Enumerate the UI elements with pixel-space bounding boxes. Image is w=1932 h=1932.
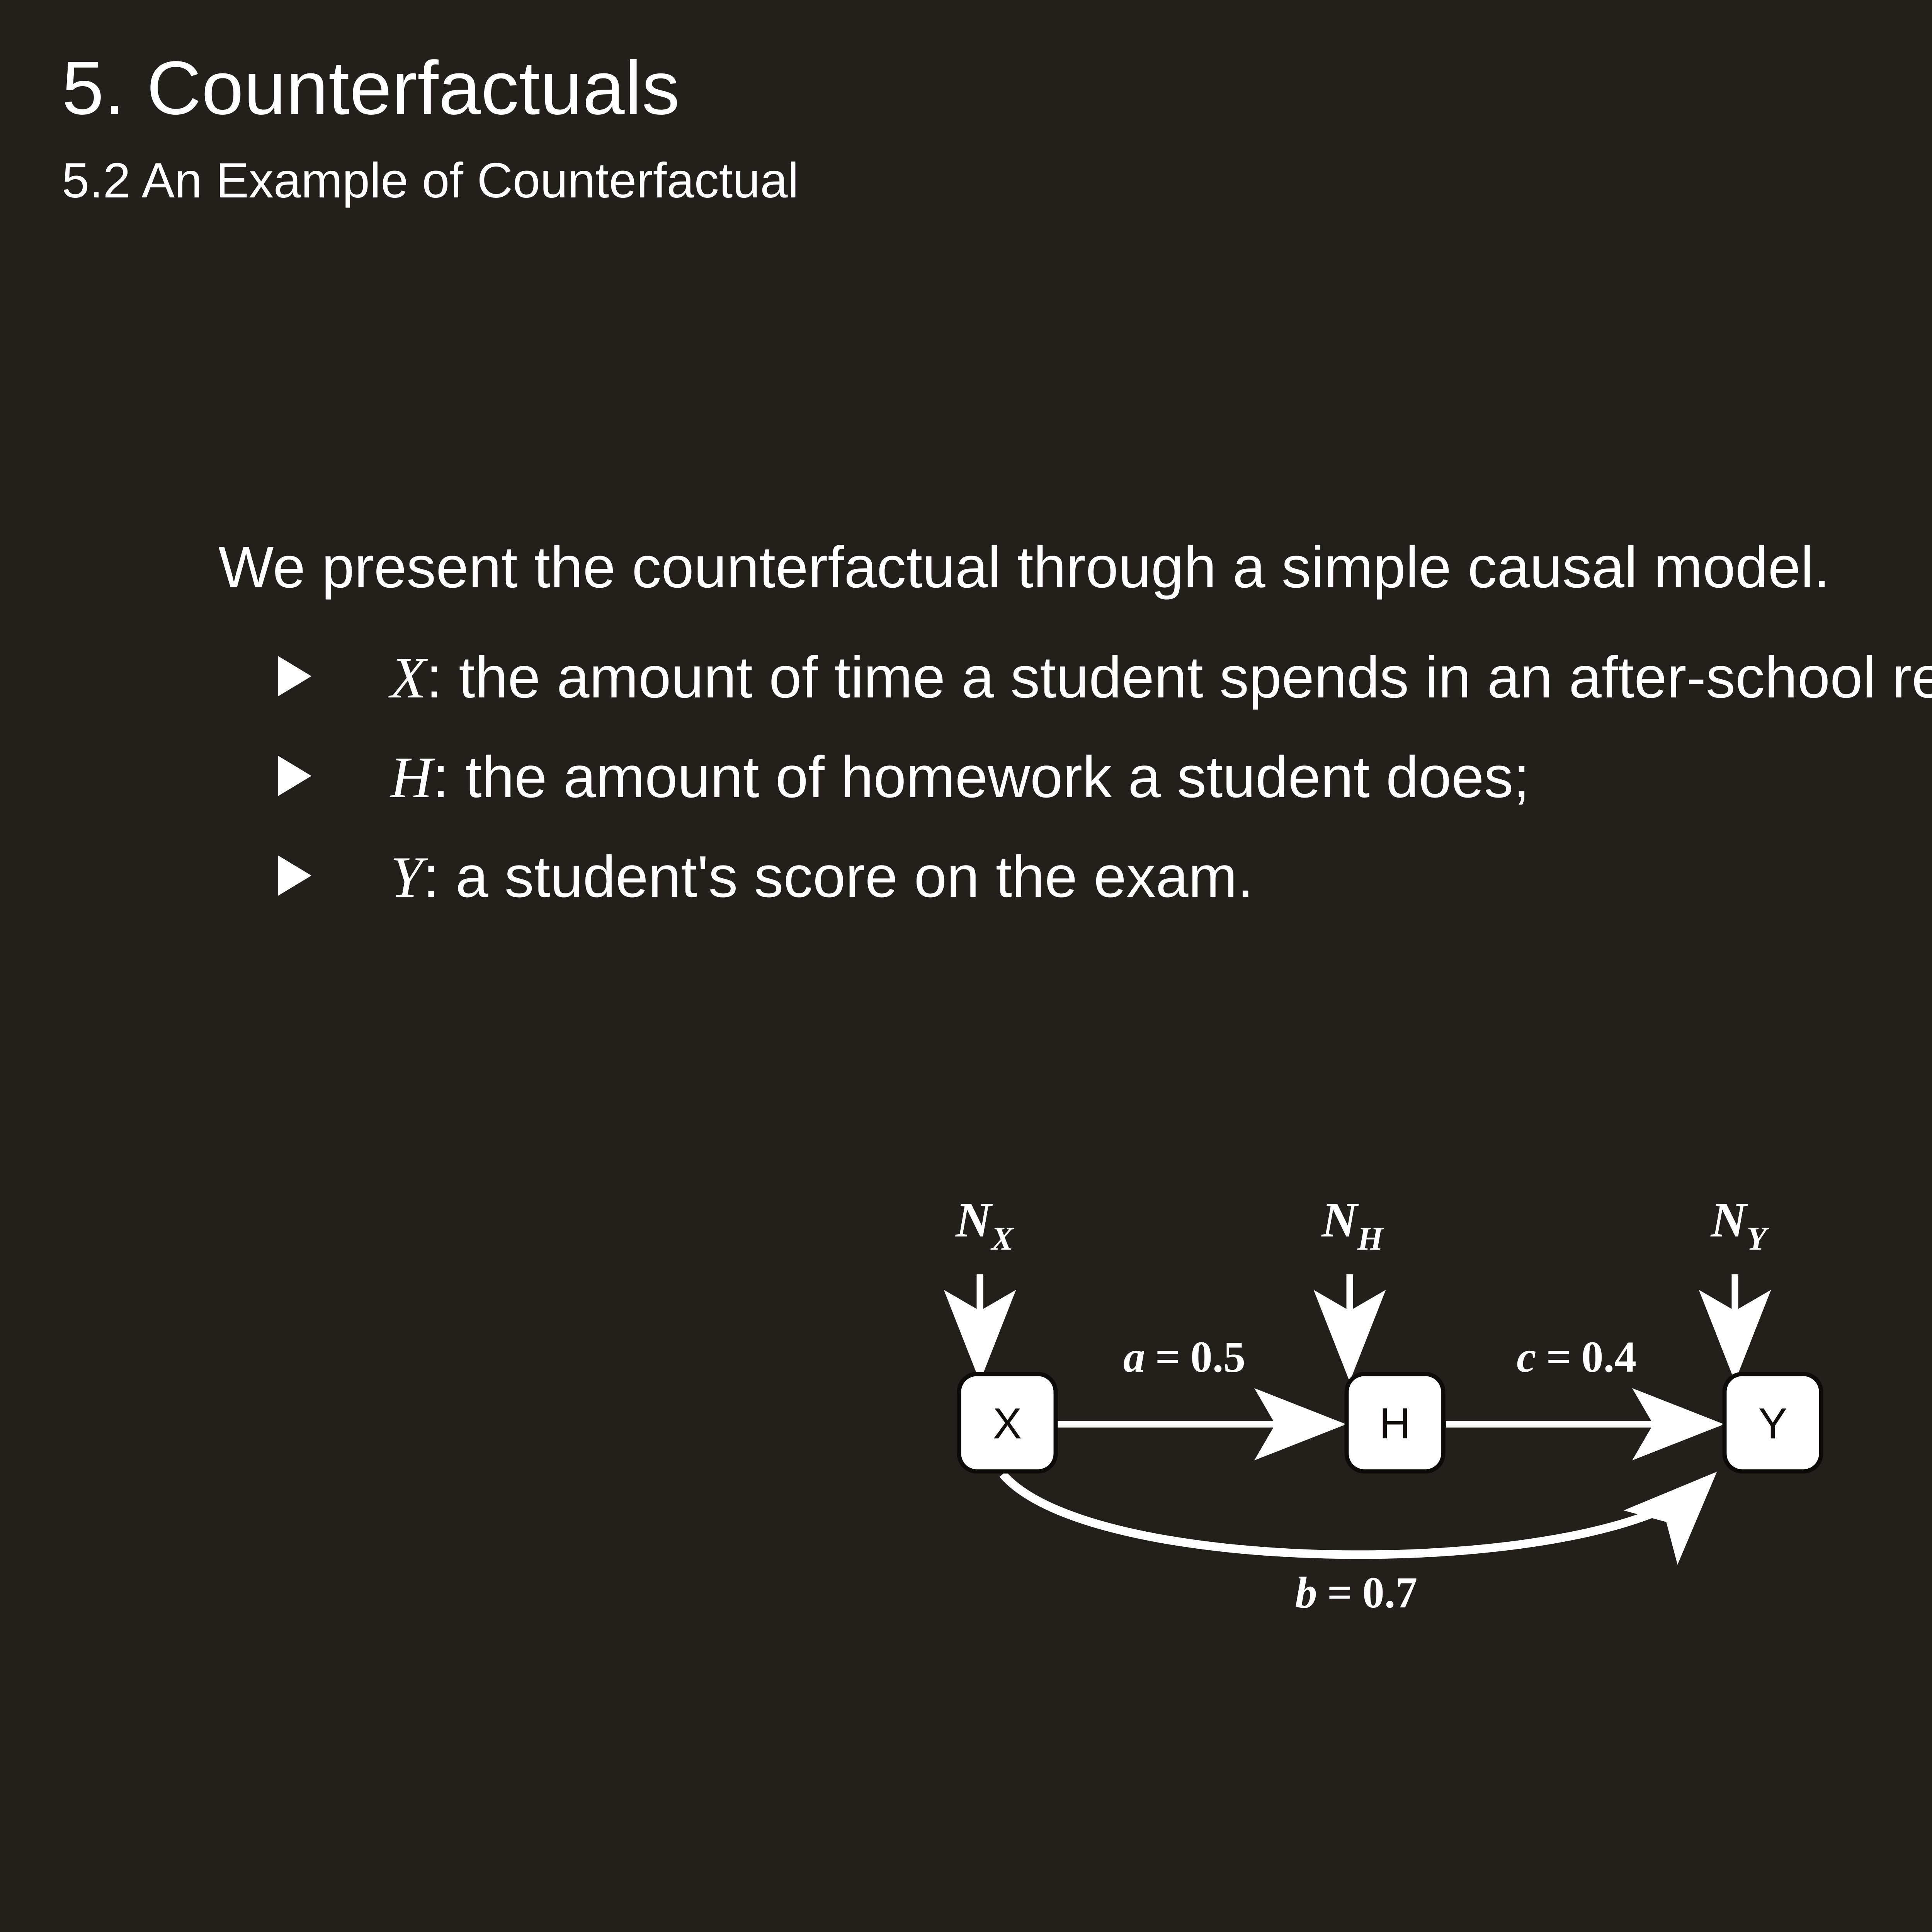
lead-paragraph: We present the counterfactual through a … <box>218 533 1932 601</box>
header: 5. Counterfactuals 5.2 An Example of Cou… <box>62 50 1932 206</box>
triangle-bullet-icon <box>278 855 311 896</box>
page-title: 5. Counterfactuals <box>62 50 1932 126</box>
noise-label-nh: NH <box>1321 1192 1384 1257</box>
list-item: H: the amount of homework a student does… <box>278 741 1932 814</box>
page-subtitle: 5.2 An Example of Counterfactual <box>62 156 1932 206</box>
node-label-h: H <box>1379 1400 1411 1448</box>
list-item: Y: a student's score on the exam. <box>278 841 1932 913</box>
node-x: X <box>959 1374 1056 1471</box>
node-label-x: X <box>993 1400 1022 1448</box>
causal-graph-diagram: NX NH NY X H Y <box>927 1190 1893 1627</box>
bullet-text: : the amount of homework a student does; <box>433 744 1530 810</box>
bullet-variable: Y <box>390 845 423 910</box>
node-y: Y <box>1725 1374 1821 1471</box>
slide-root: 5. Counterfactuals 5.2 An Example of Cou… <box>0 0 1932 1932</box>
edge-label-c: c=0.4 <box>1517 1332 1636 1381</box>
noise-label-nx: NX <box>955 1192 1014 1257</box>
edge-x-to-y-curved <box>1003 1474 1708 1554</box>
bullet-list: X: the amount of time a student spends i… <box>278 641 1932 940</box>
triangle-bullet-icon <box>278 656 311 696</box>
bullet-variable: H <box>390 745 433 810</box>
list-item: X: the amount of time a student spends i… <box>278 641 1932 714</box>
triangle-bullet-icon <box>278 756 311 796</box>
edge-label-a: a=0.5 <box>1123 1332 1245 1381</box>
bullet-text: : the amount of time a student spends in… <box>426 645 1932 710</box>
noise-label-ny: NY <box>1710 1192 1770 1257</box>
bullet-variable: X <box>390 645 426 710</box>
bullet-text: : a student's score on the exam. <box>423 844 1254 910</box>
edge-label-b: b=0.7 <box>1295 1568 1417 1617</box>
node-h: H <box>1347 1374 1443 1471</box>
node-label-y: Y <box>1759 1400 1787 1448</box>
